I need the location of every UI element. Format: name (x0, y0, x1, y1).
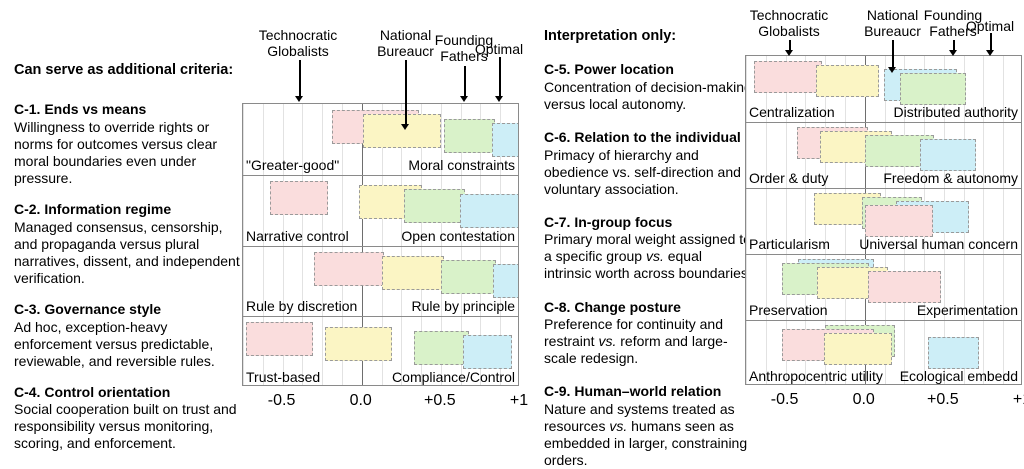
axis-tick-label: +1 (1013, 391, 1024, 409)
row-left-label: Particularism (749, 237, 830, 251)
criterion-c6-desc: Primacy of hierarchy and obedience vs. s… (544, 147, 752, 198)
left-text-column: Can serve as additional criteria: C-1. E… (14, 62, 242, 452)
chart-row: Anthropocentric utilityEcological embedd (746, 320, 1021, 385)
pointer-arrow-founding-fathers (460, 66, 469, 102)
range-box (444, 119, 495, 153)
c9-desc-italic: vs. (609, 418, 627, 434)
criterion-c1-desc: Willingness to override rights or norms … (14, 119, 242, 187)
pointer-arrow-optimal (986, 33, 995, 56)
arrow-head (295, 96, 303, 102)
arrow-shaft (789, 40, 791, 50)
range-box (868, 271, 941, 303)
c7-desc-italic: vs. (646, 248, 664, 264)
criterion-c9-desc: Nature and systems treated as resources … (544, 401, 752, 469)
range-box (414, 331, 469, 365)
criterion-c6-title: C-6. Relation to the individual (544, 129, 752, 147)
pointer-arrow-technocratic-globalists (295, 60, 304, 102)
arrow-head (401, 124, 409, 130)
row-right-label: Universal human concern (859, 237, 1018, 251)
axis-tick-label: +0.5 (424, 392, 456, 410)
arrow-shaft (405, 60, 407, 124)
criterion-c8: C-8. Change posture Preference for conti… (544, 299, 752, 368)
row-left-label: Trust-based (246, 370, 320, 384)
row-left-label: Order & duty (749, 171, 828, 185)
arrow-head (949, 50, 957, 56)
row-left-label: Narrative control (246, 229, 349, 243)
criterion-c3-title: C-3. Governance style (14, 301, 242, 319)
arrow-shaft (299, 60, 301, 96)
range-box (493, 264, 519, 298)
right-text-column: Interpretation only: C-5. Power location… (544, 28, 752, 469)
arrow-shaft (499, 57, 501, 96)
pointer-arrow-national-bureaucr (401, 60, 410, 130)
row-left-label: Anthropocentric utility (749, 369, 883, 383)
chart-row: Narrative controlOpen contestation (243, 175, 518, 246)
axis-tick-label: 0.0 (853, 391, 875, 409)
criterion-c5: C-5. Power location Concentration of dec… (544, 61, 752, 113)
pointer-arrow-optimal (495, 57, 504, 102)
criterion-c1: C-1. Ends vs means Willingness to overri… (14, 101, 242, 187)
arrow-shaft (990, 33, 992, 50)
pointer-arrow-national-bureaucr (888, 40, 897, 73)
criterion-c2: C-2. Information regime Managed consensu… (14, 201, 242, 287)
criterion-c1-title: C-1. Ends vs means (14, 101, 242, 119)
criterion-c8-title: C-8. Change posture (544, 299, 752, 317)
range-box (404, 189, 464, 223)
range-box (463, 335, 512, 369)
row-left-label: Rule by discretion (246, 299, 357, 313)
row-left-label: "Greater-good" (246, 158, 339, 172)
range-box (754, 61, 822, 93)
range-box (492, 123, 520, 157)
criterion-c9-title: C-9. Human–world relation (544, 383, 752, 401)
criterion-c9: C-9. Human–world relation Nature and sys… (544, 383, 752, 469)
range-box (441, 260, 496, 294)
left-panel: Can serve as additional criteria: C-1. E… (0, 0, 520, 429)
range-box (460, 194, 519, 228)
row-left-label: Centralization (749, 105, 835, 119)
range-box (314, 252, 384, 286)
row-right-label: Distributed authority (893, 105, 1018, 119)
c8-desc-italic: vs. (598, 333, 616, 349)
criterion-c6: C-6. Relation to the individual Primacy … (544, 129, 752, 198)
arrow-shaft (464, 66, 466, 96)
arrow-shaft (892, 40, 894, 67)
range-box (928, 337, 979, 369)
row-right-label: Open contestation (401, 229, 515, 243)
criterion-c2-title: C-2. Information regime (14, 201, 242, 219)
range-box (816, 65, 879, 97)
arrow-shaft (953, 40, 955, 50)
criterion-c3-desc: Ad hoc, exception-heavy enforcement vers… (14, 319, 242, 370)
left-chart: "Greater-good"Moral constraintsNarrative… (241, 0, 520, 429)
range-box (824, 333, 892, 365)
actor-label-technocratic-globalists: TechnocraticGlobalists (729, 8, 849, 39)
axis-tick-label: +0.5 (927, 391, 959, 409)
criterion-c4: C-4. Control orientation Social cooperat… (14, 384, 242, 453)
row-right-label: Moral constraints (408, 158, 515, 172)
axis-tick-label: -0.5 (771, 391, 799, 409)
right-chart: CentralizationDistributed authorityOrder… (744, 0, 1024, 429)
plot-area: CentralizationDistributed authorityOrder… (745, 55, 1022, 385)
criterion-c5-title: C-5. Power location (544, 61, 752, 79)
row-right-label: Ecological embedd (900, 369, 1018, 383)
plot-area: "Greater-good"Moral constraintsNarrative… (242, 103, 519, 386)
arrow-head (986, 50, 994, 56)
chart-row: ParticularismUniversal human concern (746, 188, 1021, 254)
row-right-label: Freedom & autonomy (883, 171, 1018, 185)
criterion-c7: C-7. In-group focus Primary moral weight… (544, 214, 752, 283)
range-box (382, 256, 444, 290)
criterion-c5-desc: Concentration of decision-making versus … (544, 79, 752, 113)
criterion-c7-title: C-7. In-group focus (544, 214, 752, 232)
range-box (900, 73, 966, 105)
chart-row: "Greater-good"Moral constraints (243, 104, 518, 175)
pointer-arrow-founding-fathers (949, 40, 958, 56)
pointer-arrow-technocratic-globalists (785, 40, 794, 56)
axis-tick-label: -0.5 (268, 392, 296, 410)
arrow-head (460, 96, 468, 102)
range-box (325, 327, 391, 361)
left-section-heading: Can serve as additional criteria: (14, 62, 242, 79)
chart-row: PreservationExperimentation (746, 254, 1021, 320)
range-box (920, 139, 975, 171)
range-box (865, 205, 933, 237)
right-panel: Interpretation only: C-5. Power location… (520, 0, 1024, 429)
axis-tick-label: 0.0 (350, 392, 372, 410)
range-box (270, 181, 329, 215)
chart-row: CentralizationDistributed authority (746, 56, 1021, 122)
criterion-c4-title: C-4. Control orientation (14, 384, 242, 402)
criterion-c7-desc: Primary moral weight assigned to a speci… (544, 231, 752, 282)
criterion-c2-desc: Managed consensus, censorship, and propa… (14, 219, 242, 287)
row-left-label: Preservation (749, 303, 828, 317)
criterion-c4-desc: Social cooperation built on trust and re… (14, 401, 242, 452)
chart-row: Order & dutyFreedom & autonomy (746, 122, 1021, 188)
arrow-head (785, 50, 793, 56)
range-box (246, 322, 312, 356)
arrow-head (495, 96, 503, 102)
criterion-c8-desc: Preference for continuity and restraint … (544, 316, 752, 367)
actor-label-technocratic-globalists: TechnocraticGlobalists (238, 28, 358, 59)
row-right-label: Rule by principle (412, 299, 516, 313)
right-section-heading: Interpretation only: (544, 28, 752, 45)
row-right-label: Compliance/Control (392, 370, 515, 384)
chart-row: Rule by discretionRule by principle (243, 246, 518, 317)
row-right-label: Experimentation (917, 303, 1018, 317)
criterion-c3: C-3. Governance style Ad hoc, exception-… (14, 301, 242, 370)
chart-row: Trust-basedCompliance/Control (243, 316, 518, 386)
arrow-head (888, 67, 896, 73)
